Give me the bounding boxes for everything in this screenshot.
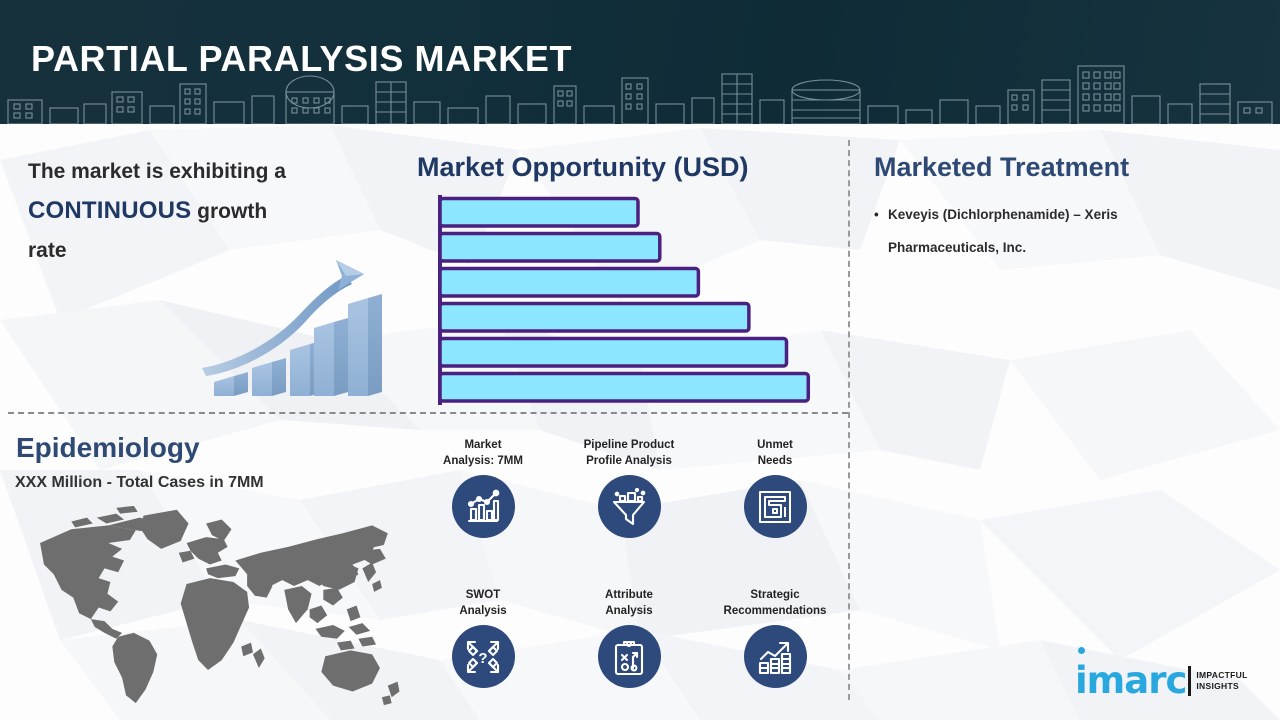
marketed-treatment-item: •Keveyis (Dichlorphenamide) – Xeris Phar… [874, 198, 1214, 264]
analysis-item-label-line-2: Analysis: 7MM [410, 454, 556, 470]
page-title: PARTIAL PARALYSIS MARKET [31, 38, 572, 80]
blurb-line-1: The market is exhibiting a [28, 160, 286, 183]
bar-2 [440, 234, 660, 262]
analysis-icon-grid: MarketAnalysis: 7MMPipeline ProductProfi… [410, 438, 848, 700]
analysis-item-funnel[interactable]: Pipeline ProductProfile Analysis [556, 438, 702, 538]
market-opportunity-bar-chart [437, 195, 837, 405]
market-blurb: The market is exhibiting a CONTINUOUS gr… [28, 152, 398, 270]
vertical-divider [848, 140, 850, 700]
analysis-item-label-line-1: Unmet [702, 438, 848, 454]
epidemiology-title: Epidemiology [16, 432, 200, 464]
analysis-item-label-line-2: Profile Analysis [556, 454, 702, 470]
logo-tagline-line-1: IMPACTFUL [1196, 670, 1247, 681]
imarc-logo-dot [1078, 647, 1085, 654]
analysis-item-label-line-1: Market [410, 438, 556, 454]
analysis-item-bar-chart-line[interactable]: MarketAnalysis: 7MM [410, 438, 556, 538]
growth-chart-arrow-icon[interactable] [744, 625, 807, 688]
analysis-item-label-line-1: Pipeline Product [556, 438, 702, 454]
analysis-item-growth-chart-arrow[interactable]: StrategicRecommendations [702, 588, 848, 688]
swot-arrows-question-icon[interactable]: ? [452, 625, 515, 688]
maze-icon[interactable] [744, 475, 807, 538]
bar-4 [440, 304, 749, 332]
analysis-item-label-line-2: Needs [702, 454, 848, 470]
blurb-line-3: rate [28, 239, 67, 262]
analysis-item-label-line-1: Attribute [556, 588, 702, 604]
analysis-item-maze[interactable]: UnmetNeeds [702, 438, 848, 538]
bar-1 [440, 199, 638, 227]
marketed-treatment-item-label: Keveyis (Dichlorphenamide) – Xeris Pharm… [888, 198, 1214, 264]
infographic-page: PARTIAL PARALYSIS MARKET The market is e… [0, 0, 1280, 720]
marketed-treatment-list: •Keveyis (Dichlorphenamide) – Xeris Phar… [874, 198, 1214, 264]
logo-divider [1188, 666, 1191, 696]
analysis-item-label-line-2: Recommendations [702, 604, 848, 620]
imarc-wordmark: imarc [1075, 663, 1186, 699]
analysis-item-clipboard-strategy[interactable]: AttributeAnalysis [556, 588, 702, 688]
world-map-icon [14, 500, 406, 710]
bar-chart-line-icon[interactable] [452, 475, 515, 538]
blurb-line-2-rest: growth [191, 200, 267, 223]
analysis-item-swot-arrows-question[interactable]: SWOTAnalysis? [410, 588, 556, 688]
marketed-treatment-title: Marketed Treatment [874, 152, 1129, 183]
bullet-icon: • [874, 198, 888, 264]
bar-5 [440, 339, 787, 367]
horizontal-divider [8, 412, 848, 414]
imarc-logo: imarc IMPACTFUL INSIGHTS [1075, 658, 1265, 704]
page-header: PARTIAL PARALYSIS MARKET [0, 0, 1280, 124]
epidemiology-subtitle: XXX Million - Total Cases in 7MM [15, 474, 264, 492]
analysis-item-label-line-1: SWOT [410, 588, 556, 604]
clipboard-strategy-icon[interactable] [598, 625, 661, 688]
bar-6 [440, 374, 808, 402]
analysis-item-label-line-2: Analysis [410, 604, 556, 620]
bar-3 [440, 269, 698, 297]
growth-bars-arrow-icon [196, 258, 391, 398]
analysis-item-label-line-2: Analysis [556, 604, 702, 620]
market-opportunity-title: Market Opportunity (USD) [417, 152, 749, 183]
analysis-item-label-line-1: Strategic [702, 588, 848, 604]
logo-tagline-line-2: INSIGHTS [1196, 681, 1247, 692]
funnel-icon[interactable] [598, 475, 661, 538]
blurb-highlight: CONTINUOUS [28, 197, 191, 224]
svg-text:?: ? [478, 650, 487, 667]
